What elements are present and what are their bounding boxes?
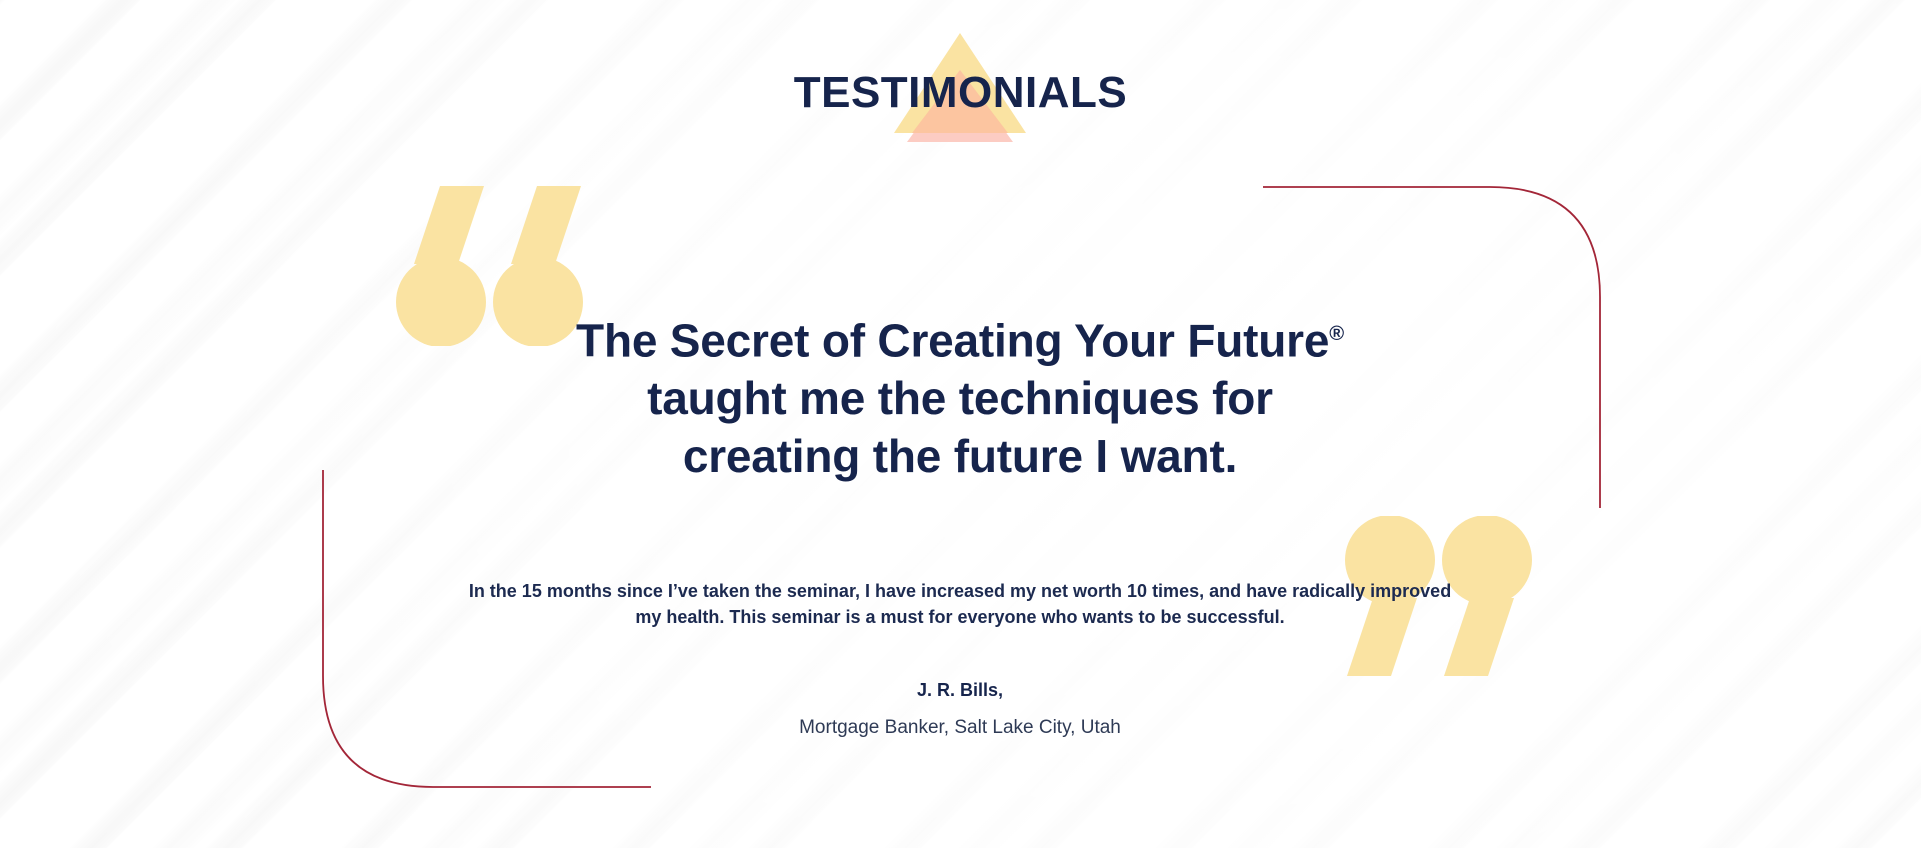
headline-text-part-1: The Secret of Creating Your Future (576, 314, 1329, 366)
registered-trademark-symbol: ® (1329, 323, 1344, 345)
testimonials-section: TESTIMONIALS The Secret of Creating Your… (0, 0, 1921, 848)
headline-text-part-2: taught me the techniques for creating th… (647, 372, 1273, 482)
testimonial-author-role: Mortgage Banker, Salt Lake City, Utah (460, 717, 1460, 739)
testimonial-author-name: J. R. Bills, (460, 680, 1460, 701)
testimonial-headline: The Secret of Creating Your Future® taug… (560, 305, 1360, 485)
testimonial-body-text: In the 15 months since I’ve taken the se… (460, 578, 1460, 630)
testimonial-content: The Secret of Creating Your Future® taug… (0, 0, 1921, 848)
